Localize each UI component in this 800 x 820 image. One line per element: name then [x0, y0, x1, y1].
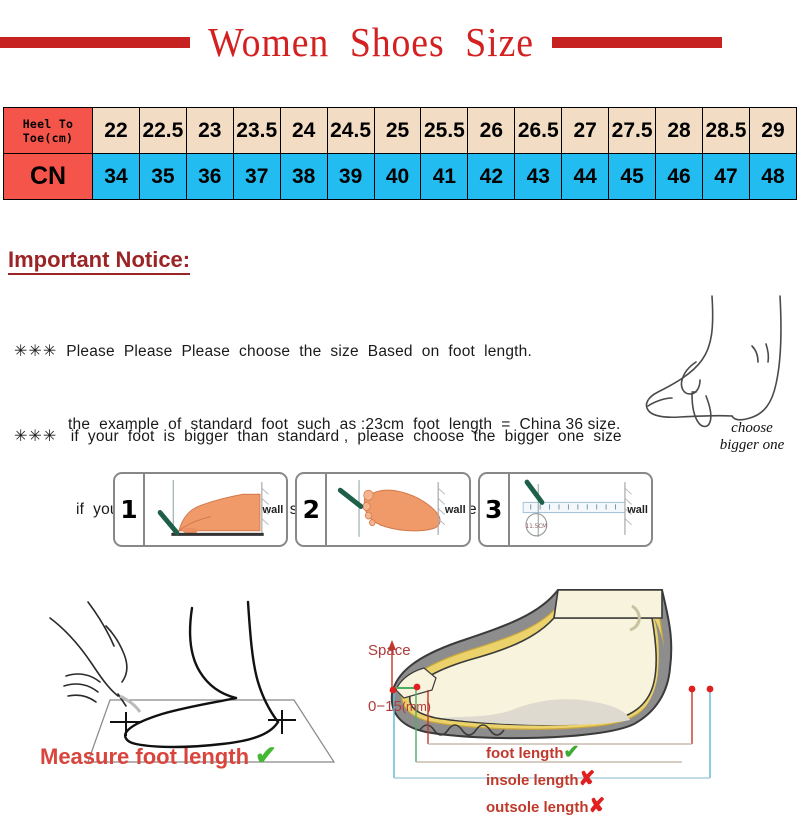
cell-cn: 42 [468, 154, 515, 200]
cell-cn: 35 [139, 154, 186, 200]
cell-cm: 28.5 [702, 108, 749, 154]
cell-cm: 28 [656, 108, 703, 154]
measurement-outsole-length: outsole length✘ [486, 793, 605, 820]
table-row-cn: CN 34 35 36 37 38 39 40 41 42 43 44 45 4… [4, 154, 797, 200]
cell-cn: 40 [374, 154, 421, 200]
important-notice-heading: Important Notice: [8, 248, 190, 275]
cell-cm: 24 [280, 108, 327, 154]
cell-cm: 27.5 [609, 108, 656, 154]
row-header-heel-to-toe: Heel To Toe(cm) [4, 108, 93, 154]
shoe-measurement-labels: foot length✔ insole length✘ outsole leng… [486, 740, 605, 820]
measurement-label: insole length [486, 772, 579, 789]
cell-cn: 36 [186, 154, 233, 200]
step-panel-1: 1 wall [113, 472, 288, 547]
cell-cm: 23 [186, 108, 233, 154]
space-label-unit: (mm) [402, 700, 431, 714]
measurement-label: foot length [486, 745, 563, 762]
bullet-asterisks: ✳✳✳ [14, 428, 57, 445]
title-rule-right [552, 37, 722, 48]
cell-cn: 46 [656, 154, 703, 200]
cell-cn: 41 [421, 154, 468, 200]
notice-line: Please Please Please choose the size Bas… [66, 343, 532, 360]
check-icon: ✔ [563, 742, 579, 763]
step-number-3: 3 [480, 474, 510, 545]
measurement-foot-length: foot length✔ [486, 740, 605, 766]
space-label-line1: Space [368, 642, 431, 661]
choose-caption-line1: choose [697, 420, 800, 437]
wall-label-1: wall [263, 504, 284, 516]
cell-cn: 39 [327, 154, 374, 200]
measurement-label: outsole length [486, 799, 589, 816]
space-label-value: 0−15 [368, 698, 402, 715]
step-panel-2: 2 wall [295, 472, 470, 547]
size-chart-table: Heel To Toe(cm) 22 22.5 23 23.5 24 24.5 … [3, 107, 797, 200]
measure-foot-length-caption: Measure foot length✔ [40, 740, 277, 771]
cell-cm: 26.5 [515, 108, 562, 154]
table-row-heel-to-toe: Heel To Toe(cm) 22 22.5 23 23.5 24 24.5 … [4, 108, 797, 154]
row-header-cn: CN [4, 154, 93, 200]
cell-cn: 37 [233, 154, 280, 200]
space-gap-label: Space 0−15(mm) [368, 604, 431, 735]
cell-cm: 24.5 [327, 108, 374, 154]
cell-cn: 38 [280, 154, 327, 200]
notice-line: if your foot is bigger than standard , p… [71, 428, 622, 445]
cell-cn: 44 [562, 154, 609, 200]
cell-cn: 47 [702, 154, 749, 200]
cell-cm: 25.5 [421, 108, 468, 154]
step-illustration-1: wall [145, 474, 286, 545]
cell-cn: 43 [515, 154, 562, 200]
cell-cn: 48 [749, 154, 796, 200]
cell-cn: 34 [93, 154, 140, 200]
cell-cn: 45 [609, 154, 656, 200]
wall-label-2: wall [445, 504, 466, 516]
page-title-text: Women Shoes Size [204, 22, 537, 63]
cross-icon: ✘ [579, 768, 596, 790]
cell-cm: 29 [749, 108, 796, 154]
step-number-1: 1 [115, 474, 145, 545]
page-title: Women Shoes Size [0, 18, 800, 66]
ruler-mark-label: 11.5CM [525, 524, 546, 530]
measurement-steps: 1 wall 2 [113, 472, 653, 547]
step-number-2: 2 [297, 474, 327, 545]
cell-cm: 27 [562, 108, 609, 154]
check-icon: ✔ [255, 740, 277, 770]
step-illustration-2: wall [327, 474, 468, 545]
measure-caption-text: Measure foot length [40, 744, 249, 769]
cell-cm: 22 [93, 108, 140, 154]
cell-cm: 22.5 [139, 108, 186, 154]
choose-caption-line2: bigger one [697, 437, 800, 454]
measurement-insole-length: insole length✘ [486, 766, 605, 793]
cell-cm: 23.5 [233, 108, 280, 154]
cross-icon: ✘ [589, 795, 606, 817]
step-illustration-3: 11.5CM wall [510, 474, 651, 545]
choose-bigger-one-caption: choose bigger one [697, 420, 800, 454]
title-rule-left [0, 37, 190, 48]
cell-cm: 25 [374, 108, 421, 154]
bullet-asterisks: ✳✳✳ [14, 343, 57, 360]
cell-cm: 26 [468, 108, 515, 154]
wall-label-3: wall [627, 504, 648, 516]
step-panel-3: 3 11.5CM [478, 472, 653, 547]
